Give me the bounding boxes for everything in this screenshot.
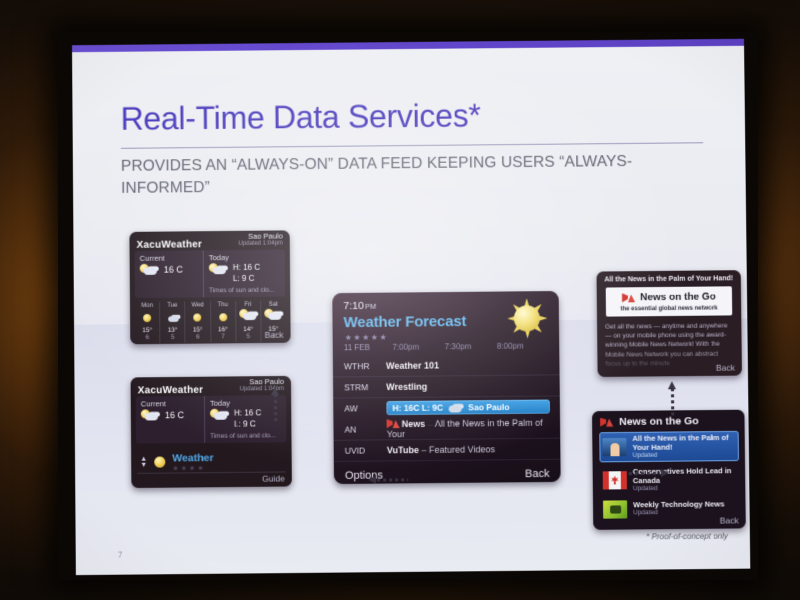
cloud-sun-icon <box>210 409 228 421</box>
news-item-selected[interactable]: All the News in the Palm of Your Hand!Up… <box>599 431 739 462</box>
weather-today-description: Times of sun and clo... <box>209 286 274 294</box>
guide-row[interactable]: ANNews – All the News in the Palm of You… <box>333 418 560 441</box>
news-item-status: Updated <box>633 509 724 518</box>
guide-row-program: H: 16C L: 9CSao Paulo <box>386 400 550 416</box>
arrow-up-icon <box>271 387 280 421</box>
guide-label[interactable]: Guide <box>262 473 285 483</box>
arrow-left-icon <box>368 475 408 484</box>
selected-channel-name: Weather <box>172 452 213 464</box>
cloud-icon <box>168 314 177 321</box>
back-label[interactable]: Back <box>265 330 284 340</box>
news-item-title: All the News in the Palm of Your Hand! <box>632 433 735 452</box>
weather-today-high: H: 16 C <box>234 408 261 419</box>
cloud-icon <box>448 403 463 412</box>
weather-current-block: Current 16 C <box>135 250 204 297</box>
weather-today-low: L: 9 C <box>233 274 260 285</box>
forecast-day[interactable]: Mon15°6 <box>135 301 161 342</box>
news-promo-headline: All the News in the Palm of Your Hand! <box>597 270 741 287</box>
page-title: Real-Time Data Services* <box>120 97 480 137</box>
weather-current-block: Current 16 C <box>136 396 206 443</box>
forecast-day[interactable]: Fri14°5 <box>236 300 262 341</box>
weather-today-high: H: 16 C <box>233 263 260 274</box>
guide-row-description: – All the News in the Palm of Your <box>387 418 543 440</box>
news-promo-body: Get all the news — anytime and anywhere … <box>605 321 734 369</box>
forecast-day[interactable]: Tue13°5 <box>160 301 186 342</box>
forecast-day-icon <box>135 308 159 326</box>
guide-row[interactable]: WTHRWeather 101 <box>333 354 560 377</box>
news-items-container: All the News in the Palm of Your Hand!Up… <box>592 431 745 521</box>
canada-flag-thumb <box>603 471 627 489</box>
forecast-day-low: 5 <box>160 333 184 340</box>
news-anchor-thumb <box>602 438 626 456</box>
page-subtitle: PROVIDES AN “ALWAYS-ON” DATA FEED KEEPIN… <box>121 150 702 200</box>
weather-current-label: Current <box>140 253 198 263</box>
weather-brand: XacuWeather <box>137 239 203 251</box>
back-label[interactable]: Back <box>720 515 739 525</box>
guide-row-program: VuTube – Featured Videos <box>387 444 551 456</box>
weather-today-description: Times of sun and clo... <box>210 432 275 440</box>
guide-row[interactable]: STRMWrestling <box>333 375 560 398</box>
back-button[interactable]: Back <box>525 468 550 480</box>
slide-footnote: * Proof-of-concept only <box>646 532 728 542</box>
forecast-day[interactable]: Wed15°6 <box>185 301 211 342</box>
weather-today-block: Today H: 16 C L: 9 C Times of sun and cl… <box>204 250 280 297</box>
weather-day-strip: Mon15°6Tue13°5Wed15°6Thu16°7Fri14°5Sat15… <box>135 300 286 343</box>
news-brand-row: News on the Go <box>610 291 728 303</box>
cloud-sun-icon <box>239 309 257 321</box>
guide-timeslot: 7:00pm <box>392 342 444 352</box>
weather-today-label: Today <box>209 253 274 263</box>
slide-page-number: 7 <box>118 550 123 559</box>
sun-icon <box>194 313 202 321</box>
guide-row-program: News – All the News in the Palm of Your <box>387 418 551 440</box>
arrow-right-icon <box>629 469 669 478</box>
projected-slide-photo: Real-Time Data Services* PROVIDES AN “AL… <box>0 0 800 600</box>
news-tagline: the essential global news network <box>610 305 728 312</box>
pa-logo-icon <box>622 293 635 302</box>
tv-guide-panel: 7:10PM Weather Forecast ★★★★★ 11 FEB 7:0… <box>332 291 560 484</box>
presentation-slide: Real-Time Data Services* PROVIDES AN “AL… <box>72 39 750 575</box>
news-item-status: Updated <box>633 484 736 493</box>
cloud-sun-icon <box>141 409 159 421</box>
news-brand-name: News on the Go <box>640 291 716 303</box>
weather-current-label: Current <box>141 399 199 409</box>
guide-row-program: Wrestling <box>386 380 549 392</box>
guide-clock: 7:10PM <box>343 300 376 312</box>
news-promo-panel: All the News in the Palm of Your Hand! N… <box>597 270 742 377</box>
forecast-day-icon <box>236 307 260 325</box>
guide-date: 11 FEB <box>344 343 393 353</box>
forecast-day-icon <box>211 308 235 326</box>
forecast-day-low: 6 <box>186 333 210 340</box>
weather-forecast-widget: XacuWeather Sao Paulo Updated 1:04pm Cur… <box>129 230 290 344</box>
guide-row-temps: H: 16C L: 9C <box>392 403 443 414</box>
news-item-status: Updated <box>633 451 736 460</box>
weather-brand: XacuWeather <box>138 385 204 397</box>
guide-row-city: Sao Paulo <box>468 402 509 412</box>
guide-timeslot: 8:00pm <box>497 341 549 351</box>
guide-row-list: WTHRWeather 101STRMWrestlingAWH: 16C L: … <box>333 354 561 462</box>
cloud-sun-icon <box>264 308 282 320</box>
selected-channel-rating: ★★★★ <box>172 464 213 472</box>
news-list-title: News on the Go <box>619 415 699 428</box>
weather-current-temp: 16 C <box>164 264 183 274</box>
forecast-day-low: 7 <box>211 333 235 340</box>
weather-widget-header: XacuWeather Sao Paulo Updated 1:04pm <box>129 230 289 251</box>
selected-channel-row[interactable]: ▲▼ Weather ★★★★ <box>140 451 283 472</box>
guide-row-channel: AW <box>344 403 386 413</box>
guide-row-channel: UVID <box>345 445 387 455</box>
forecast-day-icon <box>261 307 285 325</box>
technology-thumb <box>603 500 627 518</box>
guide-row-channel: STRM <box>344 382 386 392</box>
guide-title: Weather Forecast <box>343 313 466 331</box>
guide-rating: ★★★★★ <box>345 333 389 342</box>
back-label[interactable]: Back <box>716 363 735 373</box>
arrow-up-icon <box>668 381 677 415</box>
pa-logo-icon <box>600 418 613 427</box>
weather-compact-widget: XacuWeather Sao Paulo Updated 1:04pm Cur… <box>131 376 292 488</box>
forecast-day-low: 6 <box>135 334 159 341</box>
guide-timeslot: 7:30pm <box>445 342 497 352</box>
weather-today-block: Today H: 16 C L: 9 C Times of sun and cl… <box>205 395 281 443</box>
news-list-panel: News on the Go All the News in the Palm … <box>592 410 746 530</box>
weather-today-low: L: 9 C <box>234 419 261 430</box>
guide-row-channel: WTHR <box>344 361 386 371</box>
guide-row-program: Weather 101 <box>386 359 549 371</box>
weather-summary: Current 16 C Today H: 16 C L: 9 C <box>135 249 286 297</box>
sun-icon <box>143 314 151 322</box>
forecast-day[interactable]: Thu16°7 <box>211 301 237 342</box>
pa-logo-icon <box>387 419 400 428</box>
guide-time-header: 11 FEB 7:00pm 7:30pm 8:00pm <box>344 341 550 352</box>
cloud-sun-icon <box>209 263 227 275</box>
guide-row-description: – Featured Videos <box>421 444 495 455</box>
news-item-title: Weekly Technology News <box>633 500 724 510</box>
cloud-sun-icon <box>140 264 158 276</box>
forecast-day-low: 5 <box>236 333 260 340</box>
forecast-day-icon <box>160 308 184 326</box>
guide-row[interactable]: UVIDVuTube – Featured Videos <box>334 439 561 462</box>
news-brand-card: News on the Go the essential global news… <box>606 286 733 316</box>
spinner-arrows-icon[interactable]: ▲▼ <box>140 457 147 468</box>
sun-icon <box>507 298 547 339</box>
weather-location-block: Sao Paulo Updated 1:04pm <box>238 232 283 247</box>
weather-widget-header: XacuWeather Sao Paulo Updated 1:04pm <box>131 376 292 397</box>
guide-clock-meridiem: PM <box>365 302 376 311</box>
sun-icon <box>154 457 165 468</box>
guide-row-channel: AN <box>344 424 386 434</box>
guide-row-selected[interactable]: AWH: 16C L: 9CSao Paulo <box>333 396 560 419</box>
sun-icon <box>219 313 227 321</box>
weather-current-temp: 16 C <box>165 410 184 420</box>
weather-summary: Current 16 C Today H: 16 C L: 9 C <box>136 395 287 443</box>
forecast-day-icon <box>185 308 209 326</box>
weather-updated-time: Updated 1:04pm <box>238 240 282 247</box>
news-item[interactable]: Conservatives Hold Lead in CanadaUpdated <box>600 464 740 495</box>
weather-today-label: Today <box>210 398 275 408</box>
